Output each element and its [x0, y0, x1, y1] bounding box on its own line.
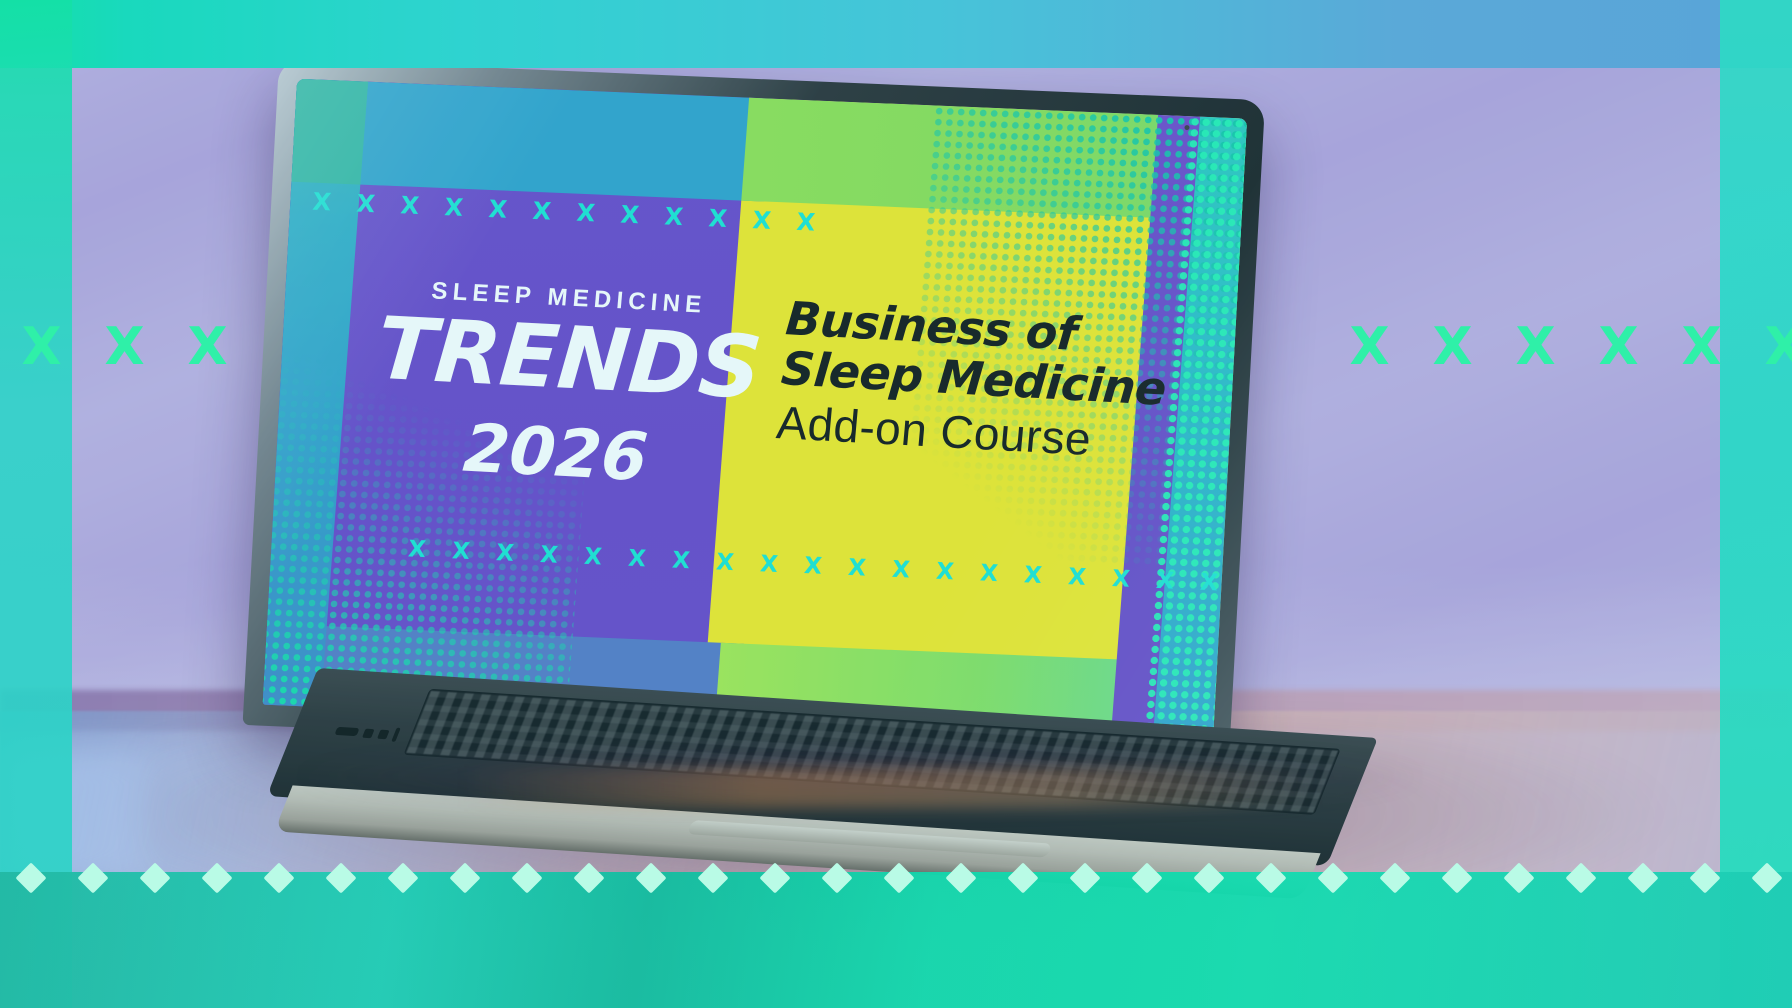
port-usbc-icon	[363, 728, 376, 738]
slide-title: TRENDS	[374, 309, 748, 410]
laptop-mockup: XXXXXXXXXXXX XXXXXXXXXXXXXXXXXXXXXXXX SL…	[282, 62, 1282, 772]
port-hdmi-icon	[335, 727, 360, 736]
webcam-icon	[1184, 125, 1189, 130]
slide-left-copy: SLEEP MEDICINE TRENDS 2026	[372, 275, 750, 495]
overlay-frame-top	[0, 0, 1792, 68]
laptop-lid: XXXXXXXXXXXX XXXXXXXXXXXXXXXXXXXXXXXX SL…	[246, 62, 1262, 763]
screenshot-stage: XXXXXXXXXXXX XXXXXXXXXXXXXXXXXXXXXXXX SL…	[0, 0, 1792, 1008]
laptop-screen: XXXXXXXXXXXX XXXXXXXXXXXXXXXXXXXXXXXX SL…	[263, 79, 1247, 745]
port-audio-icon	[392, 728, 402, 742]
slide-right-copy: Business of Sleep Medicine Add-on Course	[774, 294, 1205, 473]
overlay-frame-right	[1720, 0, 1792, 1008]
slide-artwork: XXXXXXXXXXXX XXXXXXXXXXXXXXXXXXXXXXXX SL…	[263, 79, 1247, 745]
laptop-warm-reflection	[460, 768, 1320, 808]
overlay-frame-bottom-shading	[0, 872, 1792, 1008]
overlay-frame-left	[0, 0, 72, 1008]
port-usbc-secondary-icon	[378, 729, 391, 739]
